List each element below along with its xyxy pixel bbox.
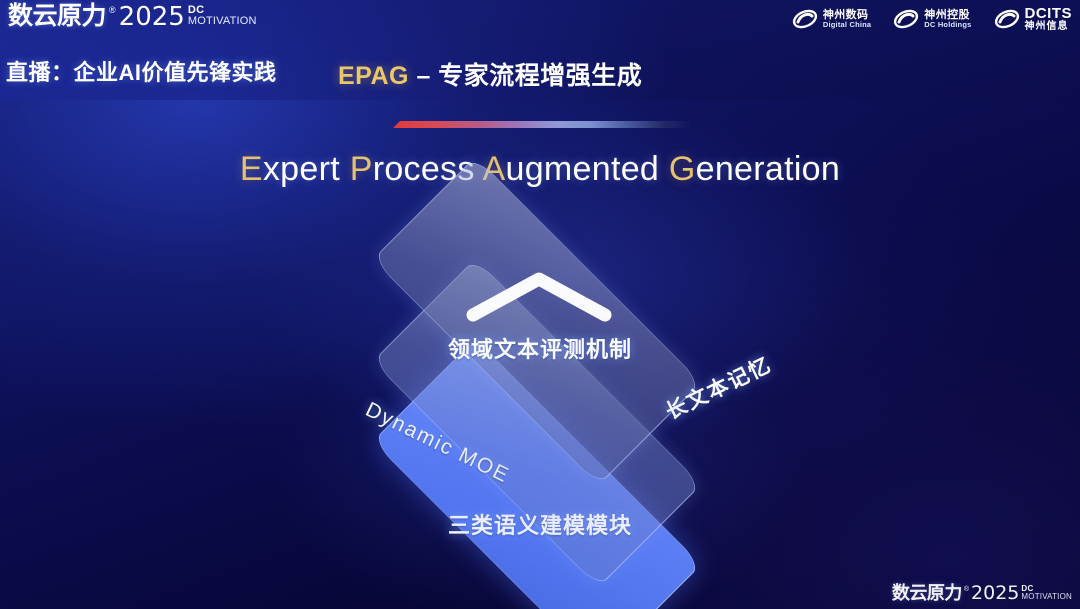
slide-title-rest: – 专家流程增强生成 (409, 62, 642, 90)
swirl-icon (893, 8, 919, 30)
logo-label-en: DC Holdings (924, 21, 971, 29)
slide-title-code: EPAG (338, 62, 409, 90)
swirl-icon (994, 8, 1020, 30)
live-title: 直播：企业AI价值先锋实践 (6, 55, 277, 87)
logo-label-en: Digital China (823, 21, 871, 29)
stack-layer-top[interactable] (311, 160, 761, 480)
swirl-icon (792, 8, 818, 30)
watermark-year: 2025 (971, 584, 1019, 603)
brand-registered-mark: ® (109, 6, 116, 15)
accent-divider-bar (393, 121, 693, 128)
logo-dc-holdings: 神州控股 DC Holdings (893, 8, 971, 30)
brand-logo: 数云原力 ® 2025 DC MOTIVATION (8, 4, 257, 30)
stack-plate-top (372, 156, 701, 485)
watermark-logo: 数云原力 ® 2025 DC MOTIVATION (892, 584, 1072, 603)
subtitle-cap-e: E (240, 150, 263, 188)
slide-title: EPAG – 专家流程增强生成 (338, 56, 642, 92)
logo-dcits: DCITS 神州信息 (994, 6, 1073, 33)
slide-canvas: 数云原力 ® 2025 DC MOTIVATION 直播：企业AI价值先锋实践 … (0, 0, 1080, 609)
watermark-motivation-label: MOTIVATION (1021, 593, 1072, 601)
brand-year: 2025 (119, 4, 185, 30)
watermark-dc-motivation: DC MOTIVATION (1021, 585, 1072, 601)
logo-digital-china: 神州数码 Digital China (792, 8, 871, 30)
logo-label-cn: DCITS (1025, 6, 1073, 22)
brand-motivation-label: MOTIVATION (188, 16, 257, 27)
watermark-registered-mark: ® (964, 586, 969, 593)
brand-name-cn: 数云原力 (8, 4, 106, 29)
logo-label-en: 神州信息 (1025, 22, 1073, 33)
brand-dc-motivation: DC MOTIVATION (188, 5, 257, 27)
watermark-name-cn: 数云原力 (892, 584, 962, 602)
corporate-logo-group: 神州数码 Digital China 神州控股 DC Holdings DCIT… (792, 6, 1072, 33)
